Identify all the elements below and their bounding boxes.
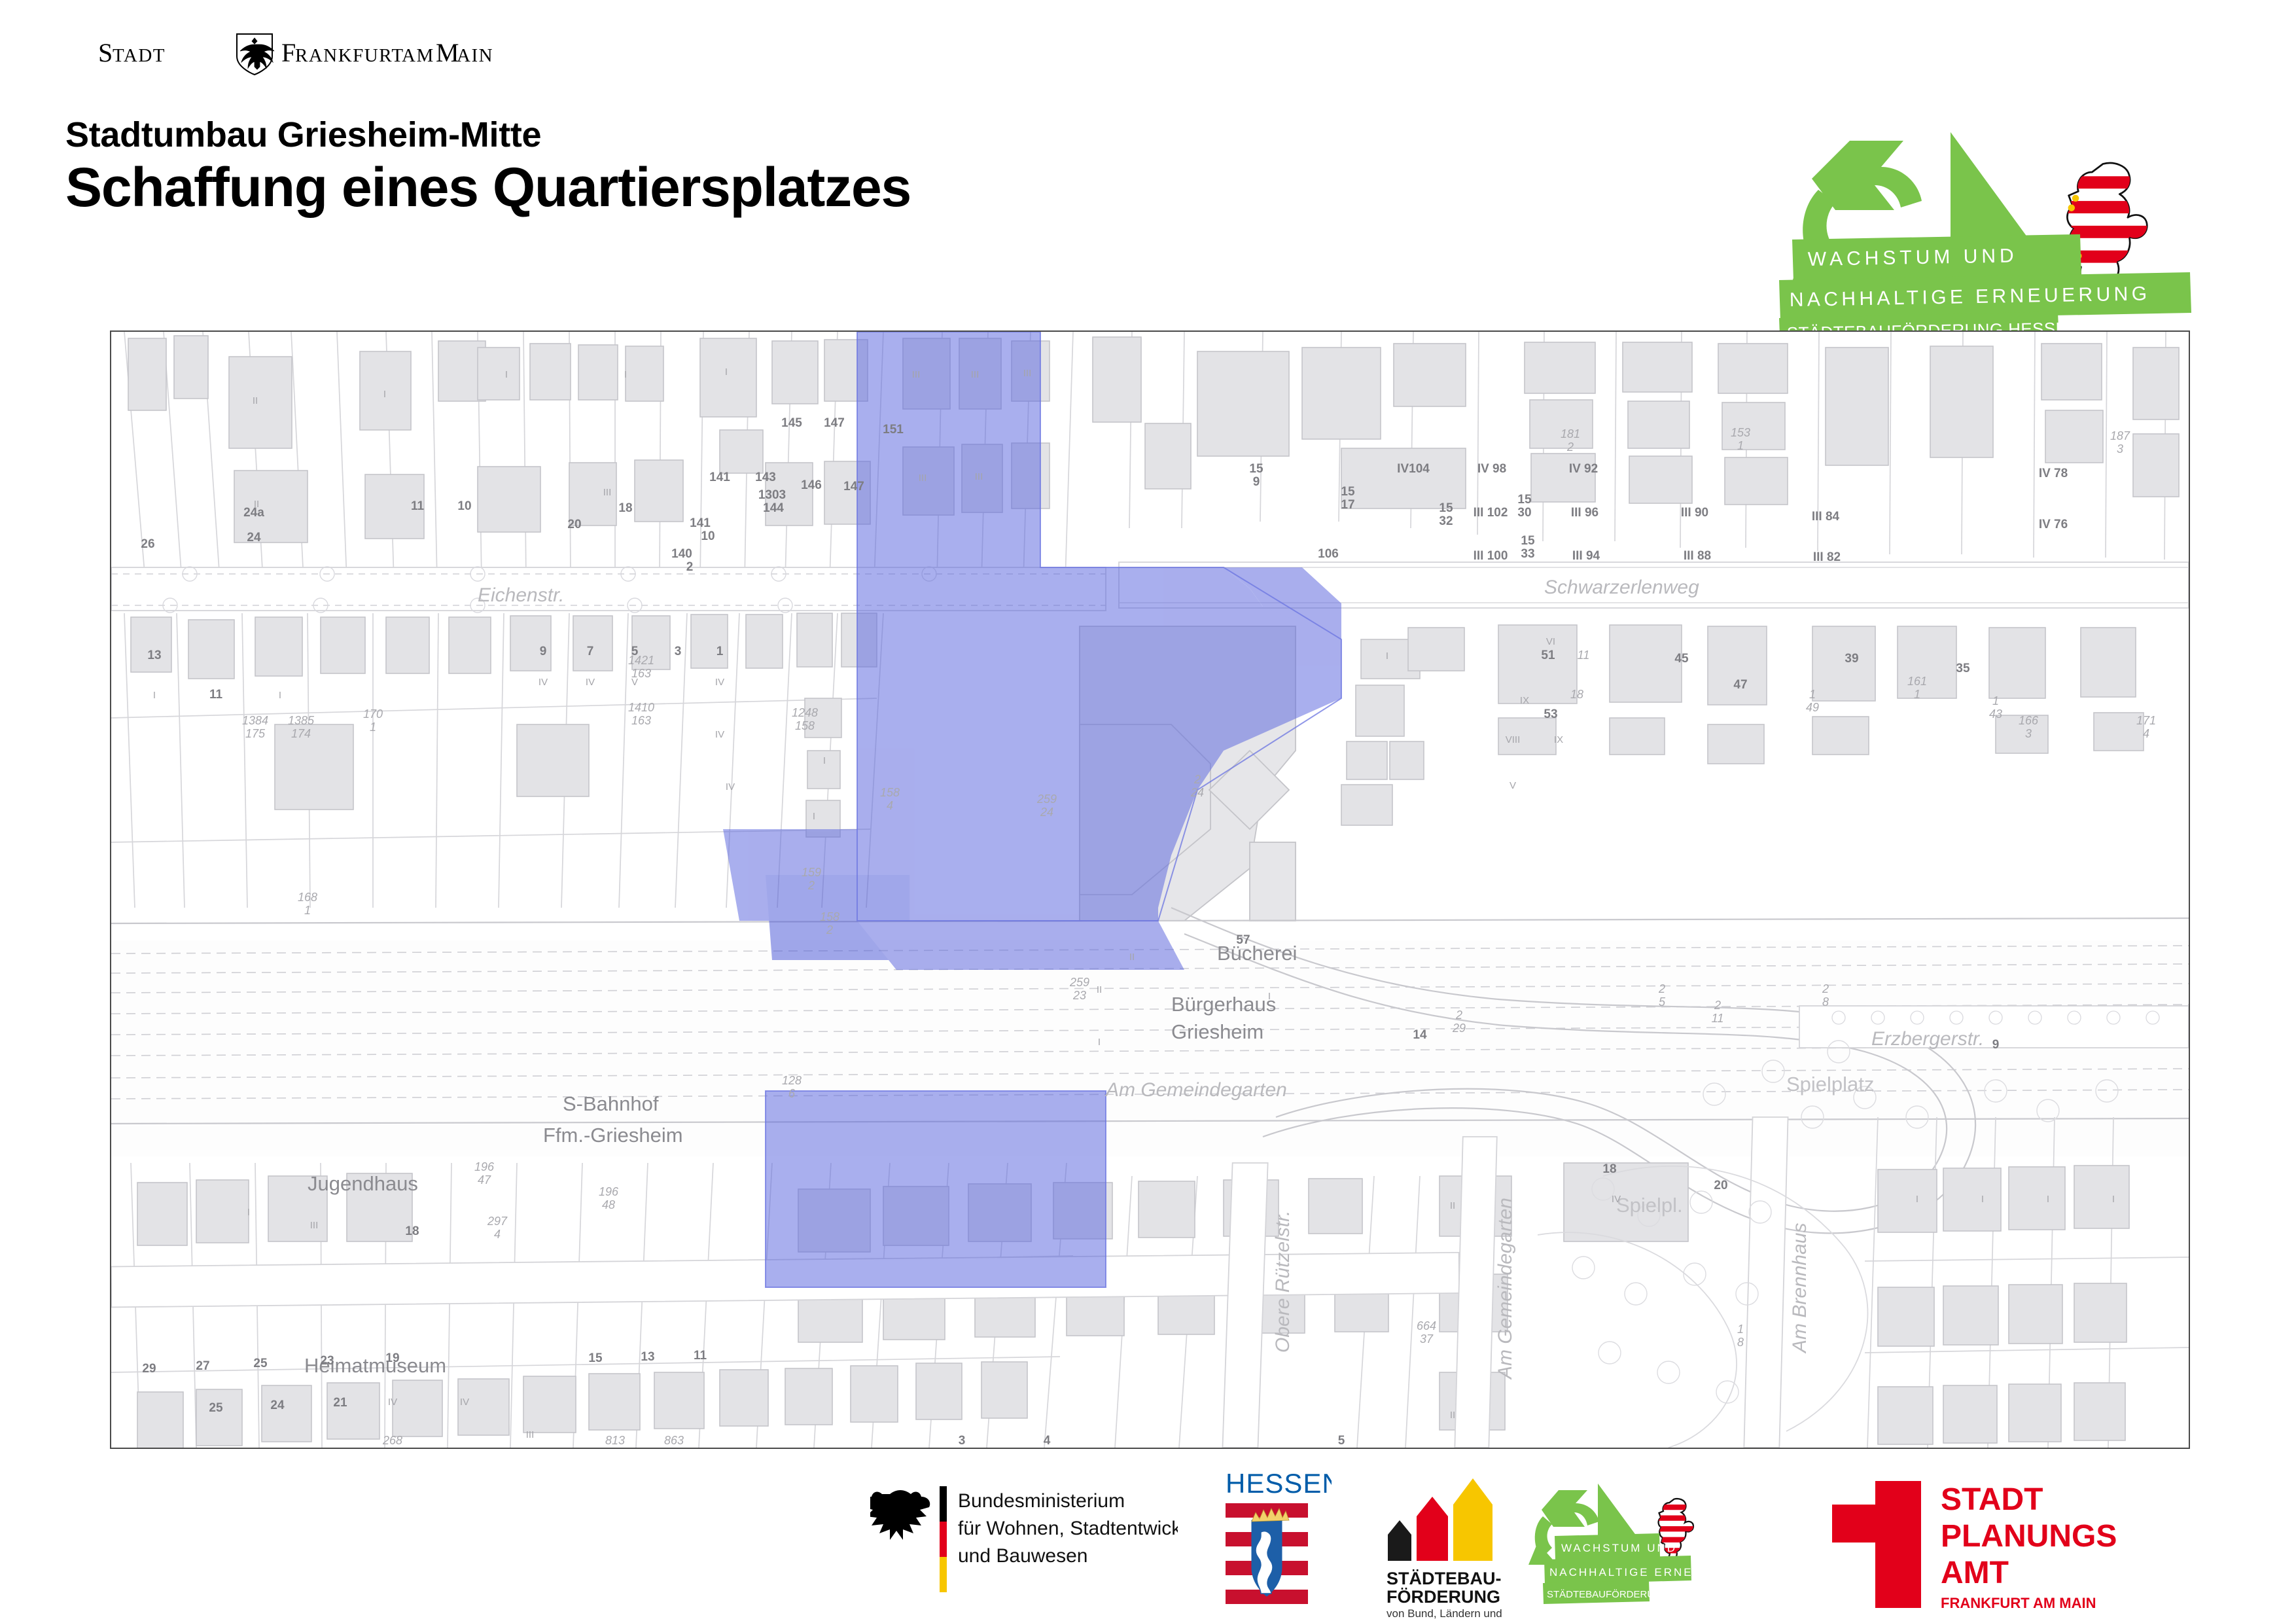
svg-text:24: 24 — [1190, 786, 1204, 799]
svg-text:I: I — [279, 690, 281, 701]
svg-text:2: 2 — [826, 923, 833, 936]
svg-text:23: 23 — [1072, 989, 1086, 1002]
spa-line-2: PLANUNGS — [1941, 1519, 2117, 1554]
svg-text:15: 15 — [1439, 501, 1453, 515]
svg-text:158: 158 — [820, 910, 839, 923]
hessen-flag-icon — [1226, 1503, 1308, 1608]
svg-text:2: 2 — [389, 1447, 396, 1448]
svg-text:I: I — [725, 366, 728, 378]
svg-text:13: 13 — [147, 649, 161, 662]
svg-text:175: 175 — [245, 727, 266, 740]
svg-text:15: 15 — [1521, 534, 1535, 548]
svg-text:III 96: III 96 — [1571, 506, 1598, 520]
svg-text:1: 1 — [716, 645, 724, 658]
svg-text:II: II — [253, 395, 258, 406]
svg-text:III: III — [603, 487, 612, 498]
svg-text:III 82: III 82 — [1813, 550, 1841, 564]
svg-text:153: 153 — [1731, 426, 1750, 439]
svg-text:20: 20 — [1714, 1179, 1727, 1192]
svg-text:IV 76: IV 76 — [2039, 518, 2068, 531]
svg-text:II: II — [1450, 1200, 1455, 1211]
svg-text:9: 9 — [1992, 1038, 2000, 1052]
svg-text:24: 24 — [247, 531, 261, 544]
federal-eagle-icon — [870, 1490, 930, 1540]
svg-text:141: 141 — [709, 471, 730, 484]
svg-text:159: 159 — [802, 866, 821, 879]
svg-text:297: 297 — [487, 1215, 508, 1228]
svg-text:128: 128 — [782, 1074, 802, 1087]
svg-text:III 84: III 84 — [1812, 510, 1840, 524]
svg-text:I: I — [1386, 651, 1388, 662]
svg-text:141: 141 — [690, 516, 711, 530]
svg-text:8: 8 — [1737, 1336, 1744, 1349]
svg-text:863: 863 — [664, 1434, 684, 1447]
place-label-buecherei: Bücherei — [1217, 942, 1297, 965]
svg-text:171: 171 — [2136, 714, 2156, 727]
cadastral-map[interactable]: Eichenstr. Schwarzerlenweg Erzbergerstr.… — [110, 330, 2190, 1449]
svg-text:106: 106 — [1318, 547, 1339, 561]
svg-text:51: 51 — [1541, 649, 1555, 662]
svg-text:24: 24 — [1040, 806, 1053, 819]
svg-text:3: 3 — [675, 645, 682, 658]
svg-text:24: 24 — [270, 1399, 285, 1412]
svg-text:151: 151 — [883, 423, 904, 437]
svg-text:187: 187 — [2110, 429, 2130, 442]
bm-line-1: Bundesministerium — [958, 1490, 1125, 1512]
spa-line-3: AMT — [1941, 1556, 2009, 1590]
svg-text:11: 11 — [1712, 1012, 1724, 1025]
svg-text:15: 15 — [1517, 493, 1532, 507]
svg-text:47: 47 — [478, 1173, 491, 1186]
svg-text:18: 18 — [1602, 1162, 1616, 1176]
svg-text:IV: IV — [715, 729, 724, 740]
svg-text:2: 2 — [1566, 440, 1574, 454]
svg-text:168: 168 — [298, 891, 317, 904]
svg-text:664: 664 — [1417, 1319, 1436, 1332]
svg-text:TADT: TADT — [113, 45, 166, 66]
svg-text:3: 3 — [2117, 442, 2123, 455]
svg-text:13: 13 — [641, 1350, 654, 1364]
svg-text:1384: 1384 — [242, 714, 268, 727]
page-title: Schaffung eines Quartiersplatzes — [65, 156, 911, 219]
svg-text:181: 181 — [1561, 427, 1580, 440]
svg-text:1385: 1385 — [288, 714, 315, 727]
svg-text:25: 25 — [209, 1401, 223, 1415]
svg-text:V: V — [1510, 780, 1516, 791]
svg-text:4: 4 — [1044, 1434, 1051, 1448]
svg-text:283: 283 — [605, 1447, 625, 1448]
svg-text:196: 196 — [474, 1160, 495, 1173]
sbf-line-1: STÄDTEBAU- — [1386, 1569, 1502, 1588]
svg-text:15: 15 — [1249, 462, 1263, 476]
logo-bundesministerium: Bundesministerium für Wohnen, Stadtentwi… — [870, 1469, 1178, 1620]
svg-text:III 100: III 100 — [1474, 549, 1508, 563]
svg-text:144: 144 — [763, 501, 784, 515]
svg-text:30: 30 — [1517, 506, 1531, 520]
wachstum-banner-1: WACHSTUM UND — [1792, 234, 2081, 281]
hessen-wordmark: HESSEN — [1226, 1469, 1332, 1499]
svg-text:43: 43 — [1989, 707, 2002, 721]
svg-text:2: 2 — [1193, 773, 1201, 786]
svg-text:I: I — [505, 369, 508, 380]
street-label-erzbergerstr: Erzbergerstr. — [1871, 1028, 1984, 1050]
svg-text:V: V — [631, 677, 638, 688]
svg-text:I: I — [1981, 1194, 1984, 1205]
svg-text:IV 98: IV 98 — [1477, 462, 1506, 476]
svg-text:196: 196 — [599, 1185, 619, 1198]
svg-text:1: 1 — [1809, 688, 1816, 701]
svg-text:39: 39 — [1845, 652, 1858, 666]
place-label-ffm-griesheim: Ffm.-Griesheim — [543, 1124, 683, 1147]
svg-text:19: 19 — [385, 1351, 399, 1365]
svg-text:9: 9 — [540, 645, 547, 658]
svg-text:S: S — [98, 38, 113, 67]
svg-text:IV104: IV104 — [1397, 462, 1430, 476]
svg-text:3: 3 — [959, 1434, 966, 1448]
svg-text:166: 166 — [2019, 714, 2039, 727]
stadtplanungsamt-mark-icon — [1832, 1481, 1921, 1608]
svg-text:1: 1 — [1992, 694, 1999, 707]
svg-text:37: 37 — [1420, 1332, 1434, 1346]
svg-text:III 102: III 102 — [1474, 506, 1508, 520]
svg-text:26: 26 — [141, 537, 154, 551]
wachstum-line-1: WACHSTUM UND — [1808, 245, 2018, 270]
svg-text:21: 21 — [333, 1396, 347, 1410]
svg-text:II: II — [1450, 1410, 1455, 1421]
svg-text:18: 18 — [405, 1224, 419, 1238]
svg-text:57: 57 — [1236, 933, 1250, 947]
svg-text:1: 1 — [1737, 439, 1744, 452]
svg-text:158: 158 — [880, 786, 900, 799]
svg-text:20: 20 — [567, 518, 581, 531]
svg-text:2: 2 — [1658, 982, 1665, 995]
svg-text:18: 18 — [618, 501, 632, 515]
svg-text:158: 158 — [795, 719, 815, 732]
wh-line-1: WACHSTUM UND — [1561, 1542, 1677, 1554]
bm-line-2: für Wohnen, Stadtentwicklung — [958, 1518, 1178, 1539]
svg-text:AM: AM — [402, 45, 434, 66]
svg-text:IX: IX — [1520, 695, 1529, 706]
svg-text:259: 259 — [1036, 793, 1057, 806]
svg-text:IV: IV — [539, 677, 548, 688]
svg-text:146: 146 — [801, 478, 822, 492]
svg-text:IX: IX — [1554, 734, 1563, 745]
svg-text:I: I — [1098, 1037, 1101, 1048]
svg-text:161: 161 — [1907, 675, 1927, 688]
svg-text:I: I — [153, 690, 156, 701]
svg-text:IV: IV — [388, 1397, 397, 1408]
svg-text:II: II — [1129, 952, 1135, 963]
wh-line-2: NACHHALTIGE ERNEUERUNG — [1549, 1566, 1753, 1578]
svg-text:II: II — [254, 499, 259, 510]
svg-text:III: III — [912, 369, 921, 380]
frankfurt-eagle-icon — [237, 34, 274, 75]
svg-text:23: 23 — [320, 1354, 334, 1368]
svg-text:1: 1 — [370, 721, 376, 734]
sbf-line-2: FÖRDERUNG — [1386, 1587, 1500, 1607]
svg-text:18: 18 — [1570, 688, 1583, 701]
svg-text:2: 2 — [1822, 982, 1829, 995]
spa-sub: FRANKFURT AM MAIN — [1941, 1595, 2096, 1611]
svg-text:29: 29 — [142, 1362, 156, 1376]
funding-logo-bar: Bundesministerium für Wohnen, Stadtentwi… — [0, 1469, 2296, 1623]
svg-text:163: 163 — [631, 714, 651, 727]
svg-text:VI: VI — [1546, 636, 1555, 647]
svg-text:14: 14 — [1413, 1028, 1427, 1042]
svg-text:49: 49 — [1806, 701, 1819, 714]
svg-text:170: 170 — [363, 707, 383, 721]
place-label-spielpl: Spielpl. — [1616, 1194, 1683, 1217]
wh-line-3: STÄDTEBAUFÖRDERUNG HESSEN — [1547, 1588, 1712, 1600]
svg-text:4: 4 — [2143, 727, 2149, 740]
svg-text:7: 7 — [587, 645, 594, 658]
svg-text:32: 32 — [1439, 514, 1453, 528]
svg-text:2: 2 — [807, 879, 815, 892]
svg-text:143: 143 — [755, 471, 776, 484]
place-label-jugendhaus: Jugendhaus — [308, 1172, 418, 1195]
svg-text:813: 813 — [605, 1434, 625, 1447]
svg-text:8: 8 — [1822, 995, 1829, 1008]
svg-text:III: III — [971, 369, 980, 380]
svg-text:III 90: III 90 — [1681, 506, 1708, 520]
svg-text:145: 145 — [781, 416, 802, 430]
svg-text:45: 45 — [1674, 652, 1689, 666]
street-label-eichenstr: Eichenstr. — [478, 584, 564, 606]
svg-text:I: I — [813, 811, 815, 822]
svg-text:III: III — [919, 473, 927, 484]
svg-text:2: 2 — [686, 560, 694, 574]
svg-text:2: 2 — [1714, 999, 1721, 1012]
svg-text:I: I — [1268, 991, 1271, 1002]
svg-text:815: 815 — [730, 1447, 750, 1448]
sbf-sub-1: von Bund, Ländern und — [1386, 1607, 1502, 1620]
svg-text:147: 147 — [843, 480, 864, 493]
project-subtitle: Stadtumbau Griesheim-Mitte — [65, 115, 541, 155]
svg-text:15: 15 — [1341, 485, 1355, 499]
street-label-am-gemeindegarten-vertical: Am Gemeindegarten — [1494, 1198, 1516, 1380]
svg-text:140: 140 — [671, 547, 692, 561]
svg-text:17: 17 — [1341, 498, 1354, 512]
place-label-buergerhaus: Bürgerhaus — [1171, 993, 1276, 1016]
svg-text:174: 174 — [291, 727, 311, 740]
svg-text:IV: IV — [1612, 1194, 1621, 1205]
svg-text:I: I — [2047, 1194, 2049, 1205]
street-label-am-brennhaus: Am Brennhaus — [1789, 1223, 1810, 1354]
svg-text:1410: 1410 — [628, 701, 654, 714]
svg-text:IV: IV — [586, 677, 595, 688]
svg-text:III 94: III 94 — [1572, 549, 1600, 563]
svg-text:259: 259 — [1069, 976, 1089, 989]
svg-text:1: 1 — [304, 904, 311, 917]
svg-text:M: M — [436, 38, 459, 67]
svg-text:III: III — [975, 471, 983, 482]
svg-text:27: 27 — [196, 1359, 209, 1373]
svg-text:IV 92: IV 92 — [1569, 462, 1598, 476]
svg-text:10: 10 — [701, 529, 715, 543]
svg-text:11: 11 — [694, 1349, 707, 1363]
svg-text:IV 78: IV 78 — [2039, 467, 2068, 480]
svg-text:11: 11 — [411, 499, 425, 513]
svg-text:I: I — [823, 755, 826, 766]
street-label-schwarzerlenweg: Schwarzerlenweg — [1544, 577, 1699, 598]
street-label-obere-ruetzelstr: Obere Rützelstr. — [1272, 1211, 1294, 1353]
svg-text:F: F — [281, 38, 296, 67]
svg-text:III: III — [1023, 368, 1032, 379]
place-label-griesheim: Griesheim — [1171, 1020, 1263, 1043]
svg-text:VIII: VIII — [1506, 734, 1521, 745]
logo-hessen: HESSEN — [1214, 1469, 1332, 1620]
svg-text:48: 48 — [602, 1198, 615, 1211]
svg-text:I: I — [2112, 1194, 2115, 1205]
svg-text:III 88: III 88 — [1684, 549, 1711, 563]
logo-stadtplanungsamt: STADT PLANUNGS AMT FRANKFURT AM MAIN — [1832, 1469, 2185, 1620]
svg-text:RANKFURT: RANKFURT — [295, 45, 404, 66]
place-label-spielplatz: Spielplatz — [1786, 1073, 1874, 1096]
svg-text:I: I — [383, 389, 386, 400]
svg-text:III: III — [310, 1220, 319, 1231]
svg-text:25: 25 — [253, 1357, 268, 1370]
svg-text:33: 33 — [1521, 547, 1534, 561]
svg-text:5: 5 — [631, 645, 639, 658]
svg-text:47: 47 — [1733, 678, 1747, 692]
svg-text:35: 35 — [1956, 662, 1970, 675]
german-flag-bar — [940, 1486, 947, 1592]
svg-text:1303: 1303 — [758, 488, 786, 502]
stadt-frankfurt-logo: S TADT F RANKFURT AM M AIN — [98, 31, 517, 77]
svg-text:2: 2 — [1455, 1008, 1462, 1022]
three-houses-icon — [1388, 1478, 1492, 1561]
svg-text:1: 1 — [1914, 688, 1920, 701]
bm-line-3: und Bauwesen — [958, 1545, 1088, 1567]
svg-text:3: 3 — [2025, 727, 2032, 740]
svg-text:I: I — [1916, 1194, 1918, 1205]
svg-text:281: 281 — [663, 1447, 684, 1448]
svg-text:4: 4 — [494, 1228, 501, 1241]
svg-text:5: 5 — [1659, 995, 1666, 1008]
svg-text:AIN: AIN — [457, 45, 493, 66]
svg-text:147: 147 — [824, 416, 845, 430]
logo-wachstum-hessen-small: WACHSTUM UND NACHHALTIGE ERNEUERUNG STÄD… — [1525, 1469, 1806, 1620]
svg-text:268: 268 — [382, 1434, 402, 1447]
svg-text:IV: IV — [460, 1397, 469, 1408]
svg-text:I: I — [624, 369, 627, 380]
svg-text:II: II — [1097, 984, 1102, 995]
svg-text:I: I — [247, 1207, 250, 1218]
svg-text:9: 9 — [1253, 475, 1260, 489]
svg-text:5: 5 — [1338, 1434, 1345, 1448]
svg-text:15: 15 — [588, 1351, 603, 1365]
svg-text:53: 53 — [1544, 707, 1557, 721]
svg-text:IV: IV — [715, 677, 724, 688]
svg-text:29: 29 — [1452, 1022, 1466, 1035]
svg-text:10: 10 — [457, 499, 471, 513]
street-label-am-gemeindegarten: Am Gemeindegarten — [1104, 1079, 1287, 1101]
svg-text:IV: IV — [726, 781, 735, 793]
svg-text:4: 4 — [887, 799, 893, 812]
svg-text:11: 11 — [209, 688, 223, 702]
svg-text:11: 11 — [1578, 649, 1590, 662]
svg-text:III: III — [526, 1429, 535, 1440]
svg-text:6: 6 — [788, 1087, 796, 1100]
svg-text:1248: 1248 — [792, 706, 818, 719]
place-label-s-bahnhof: S-Bahnhof — [563, 1092, 659, 1115]
svg-text:1: 1 — [1737, 1323, 1744, 1336]
spa-line-1: STADT — [1941, 1482, 2043, 1517]
